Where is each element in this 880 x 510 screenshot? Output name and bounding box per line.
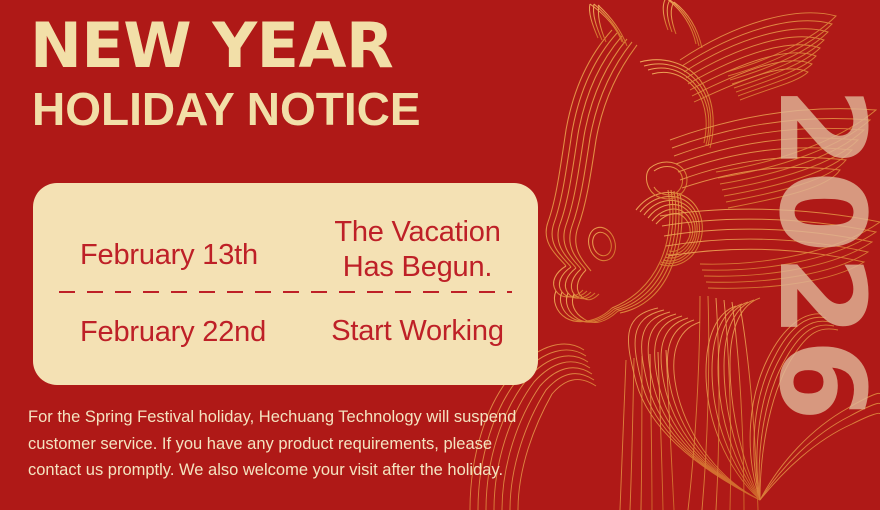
year-badge: 2026 xyxy=(762,0,880,510)
schedule-card: February 13th The Vacation Has Begun. Fe… xyxy=(33,183,538,385)
horse-head-icon xyxy=(546,0,713,322)
card-dashed-divider xyxy=(59,291,512,293)
new-year-holiday-notice-poster: 2026 NEW YEAR HOLIDAY NOTICE February 13… xyxy=(0,0,880,510)
schedule-row-return-to-work: February 22nd Start Working xyxy=(59,295,512,369)
schedule-label-1-line-1: The Vacation xyxy=(327,215,508,250)
schedule-label-1: The Vacation Has Begun. xyxy=(327,215,512,286)
notice-line-2: customer service. If you have any produc… xyxy=(28,431,628,458)
schedule-row-vacation-start: February 13th The Vacation Has Begun. xyxy=(59,201,512,289)
schedule-date-2: February 22nd xyxy=(59,316,327,349)
schedule-label-2: Start Working xyxy=(327,314,512,349)
notice-paragraph: For the Spring Festival holiday, Hechuan… xyxy=(28,404,628,484)
headline-line-2: HOLIDAY NOTICE xyxy=(32,84,421,136)
notice-line-1: For the Spring Festival holiday, Hechuan… xyxy=(28,404,628,431)
headline-line-1: NEW YEAR xyxy=(30,14,421,78)
schedule-label-1-line-2: Has Begun. xyxy=(327,250,508,285)
year-text: 2026 xyxy=(763,87,880,423)
schedule-date-1: February 13th xyxy=(59,215,327,272)
page-title: NEW YEAR HOLIDAY NOTICE xyxy=(30,14,421,136)
horse-mane-icon xyxy=(620,13,880,510)
notice-line-3: contact us promptly. We also welcome you… xyxy=(28,457,628,484)
